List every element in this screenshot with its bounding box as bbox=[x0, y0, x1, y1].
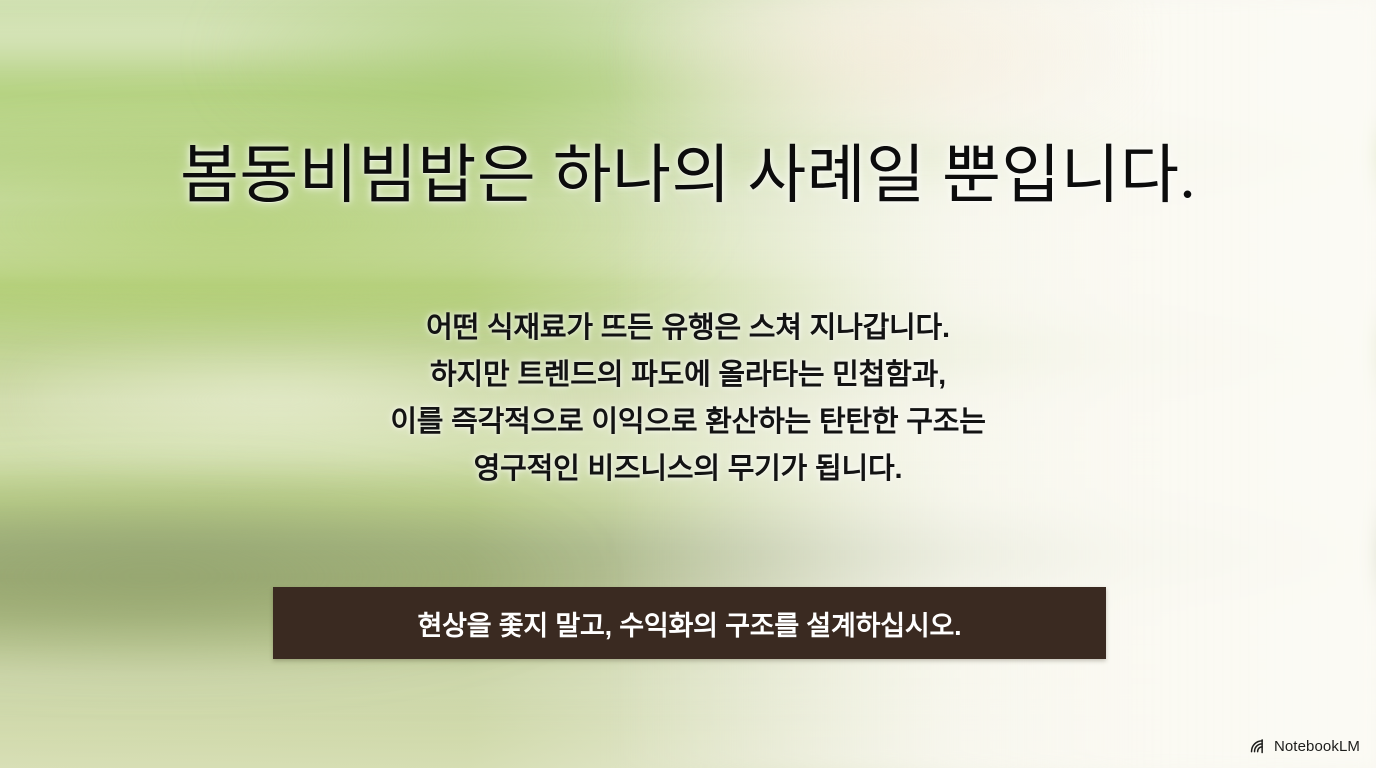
body-line-4: 영구적인 비즈니스의 무기가 됩니다. bbox=[0, 446, 1376, 493]
body-line-2: 하지만 트렌드의 파도에 올라타는 민첩함과, bbox=[0, 352, 1376, 399]
callout-text: 현상을 좇지 말고, 수익화의 구조를 설계하십시오. bbox=[418, 604, 962, 643]
body-line-1: 어떤 식재료가 뜨든 유행은 스쳐 지나갑니다. bbox=[0, 305, 1376, 352]
notebooklm-label: NotebookLM bbox=[1274, 739, 1360, 754]
slide-title: 봄동비빔밥은 하나의 사례일 뿐입니다. bbox=[0, 139, 1376, 213]
slide-canvas: 봄동비빔밥은 하나의 사례일 뿐입니다. 어떤 식재료가 뜨든 유행은 스쳐 지… bbox=[0, 0, 1376, 768]
body-line-3: 이를 즉각적으로 이익으로 환산하는 탄탄한 구조는 bbox=[0, 399, 1376, 446]
notebooklm-logo-icon bbox=[1249, 737, 1268, 756]
slide-body: 어떤 식재료가 뜨든 유행은 스쳐 지나갑니다. 하지만 트렌드의 파도에 올라… bbox=[0, 305, 1376, 493]
slide-content: 봄동비빔밥은 하나의 사례일 뿐입니다. 어떤 식재료가 뜨든 유행은 스쳐 지… bbox=[0, 0, 1376, 768]
callout-banner: 현상을 좇지 말고, 수익화의 구조를 설계하십시오. bbox=[273, 587, 1106, 659]
notebooklm-watermark: NotebookLM bbox=[1249, 737, 1360, 756]
